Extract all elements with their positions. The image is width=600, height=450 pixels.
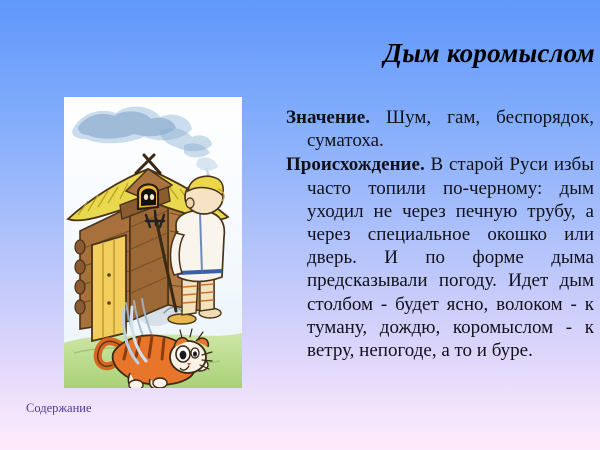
attic-window: [138, 184, 158, 209]
illustration-canvas: [64, 97, 242, 388]
page-title: Дым коромыслом: [255, 36, 595, 70]
illustration: [64, 97, 242, 388]
paragraph-meaning: Значение. Шум, гам, беспорядок, суматоха…: [286, 106, 594, 152]
hut-door: [92, 235, 126, 341]
slide-root: Дым коромыслом: [0, 0, 600, 450]
belt: [178, 271, 222, 273]
body-text: Значение. Шум, гам, беспорядок, суматоха…: [286, 106, 594, 362]
paragraph-origin-text: В старой Руси избы часто топили по-черно…: [307, 154, 594, 361]
paragraph-origin-lead: Происхождение: [286, 154, 420, 175]
paragraph-origin: Происхождение. В старой Руси избы часто …: [286, 153, 594, 362]
table-of-contents-link[interactable]: Содержание: [26, 401, 92, 416]
paragraph-meaning-lead: Значение: [286, 107, 365, 128]
